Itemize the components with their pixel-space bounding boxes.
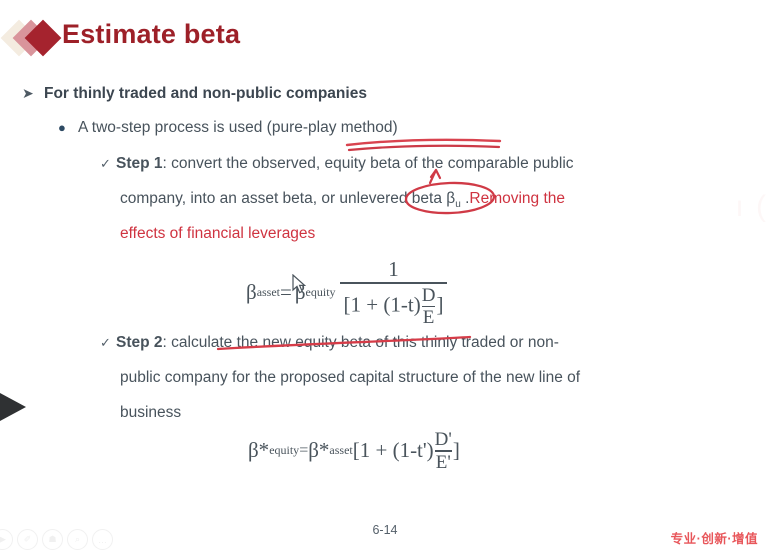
arrow-bullet-icon: ➤ <box>22 85 44 102</box>
step1-line2: company, into an asset beta, or unlevere… <box>120 190 565 210</box>
company-logo <box>6 18 64 58</box>
step1-line2-pre: company, into an asset beta, or unlevere… <box>120 190 455 207</box>
pen-icon[interactable]: ✐ <box>17 529 38 550</box>
step2-text: : calculate the new equity beta of this … <box>163 334 559 351</box>
step1-text: : convert the observed, equity beta of t… <box>163 155 574 172</box>
prev-slide-triangle-icon[interactable] <box>0 393 26 421</box>
play-icon[interactable]: ▶ <box>0 529 13 550</box>
check-bullet-icon-2: ✓ <box>100 335 116 351</box>
bullet-level2-label: A two-step process is used (pure-play me… <box>78 119 398 136</box>
round-bullet-icon: ● <box>58 120 78 135</box>
formula2-bracket-open: [1 + (1-t') <box>353 438 434 463</box>
step2-line1: ✓Step 2: calculate the new equity beta o… <box>100 334 559 352</box>
formula1-lhs-beta: β <box>246 280 257 305</box>
bullet-level1-label: For thinly traded and non-public compani… <box>44 85 367 102</box>
step2-label: Step 2 <box>116 334 163 351</box>
formula1-de-num: D <box>422 286 436 305</box>
formula1-denominator: [1 + (1-t)DE] <box>340 286 448 328</box>
page-number: 6-14 <box>0 523 770 537</box>
search-icon[interactable]: ⌕ <box>67 529 88 550</box>
formula2-de-den: E' <box>436 453 451 472</box>
formula2-rhs: β* <box>308 438 329 463</box>
formula1-lhs-sub: asset <box>257 285 280 300</box>
step1-line1: ✓Step 1: convert the observed, equity be… <box>100 155 574 173</box>
formula1-de-fraction: DE <box>422 286 436 328</box>
step1-line3-red: effects of financial leverages <box>120 225 315 243</box>
formula1-rhs-sub: equity <box>306 285 336 300</box>
slide-title: Estimate beta <box>62 19 240 50</box>
formula1-fraction: 1 [1 + (1-t)DE] <box>340 258 448 327</box>
slide-canvas: Estimate beta ➤For thinly traded and non… <box>0 0 770 549</box>
edge-artifact-marks: ı ( <box>735 190 768 224</box>
step2-line2: public company for the proposed capital … <box>120 369 580 387</box>
formula2-de-fraction: D'E' <box>435 430 452 472</box>
formula1-fraction-bar <box>340 282 448 284</box>
formula1-de-den: E <box>423 308 435 327</box>
formula-new-equity-beta: β*equity=β*asset[1 + (1-t')D'E'] <box>248 430 460 472</box>
cursor-arrow-shape <box>293 275 305 293</box>
formula1-equals: = <box>280 280 292 305</box>
more-icon[interactable]: … <box>92 529 113 550</box>
formula1-den-close: ] <box>436 292 443 316</box>
step1-label: Step 1 <box>116 155 163 172</box>
step2-line3: business <box>120 404 181 422</box>
underline-pure-play-stroke2 <box>349 146 499 150</box>
underline-pure-play-stroke1 <box>347 140 500 145</box>
formula2-equals: = <box>299 442 308 460</box>
mouse-cursor <box>292 274 308 296</box>
formula2-lhs: β* <box>248 438 269 463</box>
bullet-level1: ➤For thinly traded and non-public compan… <box>22 85 367 103</box>
formula2-de-num: D' <box>435 430 452 449</box>
presenter-toolbar[interactable]: ▶ ✐ ☗ ⌕ … <box>0 529 113 550</box>
formula1-den-open: [1 + (1-t) <box>344 292 421 316</box>
formula2-lhs-sub: equity <box>269 443 299 458</box>
gift-icon[interactable]: ☗ <box>42 529 63 550</box>
formula2-rhs-sub: asset <box>329 443 352 458</box>
formula-asset-beta: βasset=βequity 1 [1 + (1-t)DE] <box>246 258 447 327</box>
formula2-bracket-close: ] <box>453 438 460 463</box>
footer-slogan: 专业·创新·增值 <box>671 528 758 547</box>
step1-line2-red: Removing the <box>469 190 565 207</box>
check-bullet-icon: ✓ <box>100 156 116 172</box>
formula1-numerator: 1 <box>382 258 405 280</box>
bullet-level2: ●A two-step process is used (pure-play m… <box>58 119 398 137</box>
